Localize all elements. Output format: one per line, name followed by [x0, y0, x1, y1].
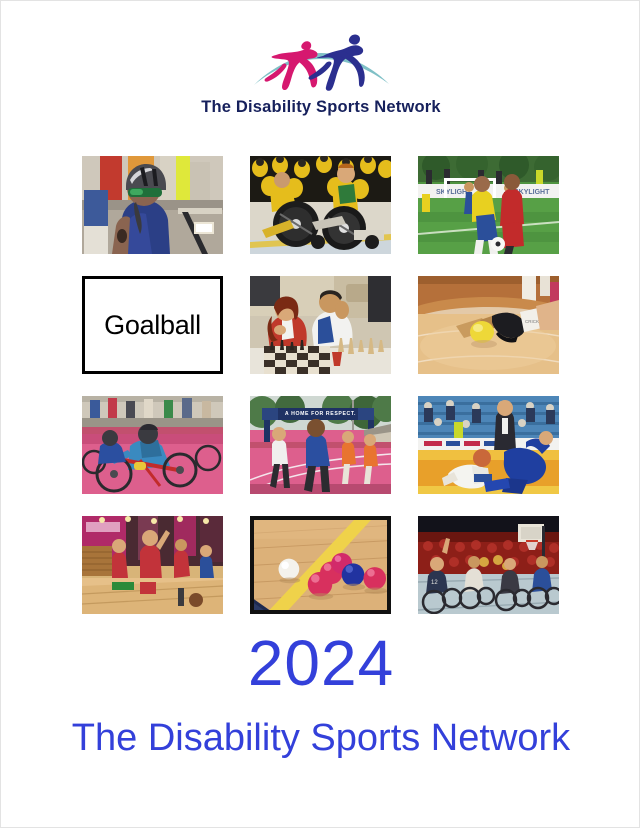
- grid-cell: A HOME FOR RESPECT.: [250, 396, 391, 494]
- grid-cell: CRICKET: [418, 276, 559, 374]
- photo-wheelchair-basketball-image: 12: [418, 516, 559, 614]
- photo-judo: [418, 396, 559, 494]
- photo-boccia-image: [254, 520, 387, 612]
- grid-cell: [250, 276, 391, 374]
- photo-para-triathlon-athlete: [82, 156, 223, 254]
- grid-cell: [250, 156, 391, 254]
- photo-chess: [250, 276, 391, 374]
- grid-cell: Goalball: [82, 276, 223, 374]
- placard-goalball: Goalball: [82, 276, 223, 374]
- grid-cell: [82, 516, 223, 614]
- photo-ten-pin-bowling-image: [82, 516, 223, 614]
- photo-athletics-sprint: A HOME FOR RESPECT.: [250, 396, 391, 494]
- photo-wheelchair-rugby-image: [250, 156, 391, 254]
- photo-judo-image: [418, 396, 559, 494]
- photo-boccia: [250, 516, 391, 614]
- grid-cell: 12: [418, 516, 559, 614]
- grid-cell: [82, 156, 223, 254]
- photo-table-cricket-image: CRICKET: [418, 276, 559, 374]
- grid-cell: SKYLIGHT SKYLIGHT: [418, 156, 559, 254]
- svg-text:12: 12: [431, 580, 438, 586]
- photo-cerebral-palsy-football-image: SKYLIGHT SKYLIGHT: [418, 156, 559, 254]
- organisation-title: The Disability Sports Network: [1, 719, 640, 757]
- photo-chess-image: [250, 276, 391, 374]
- grid-cell: [82, 396, 223, 494]
- the-disability-sports-network-logo-icon: [246, 23, 396, 93]
- photo-handcycling: [82, 396, 223, 494]
- calendar-year: 2024: [1, 631, 640, 695]
- photo-athletics-banner-text: A HOME FOR RESPECT.: [250, 411, 391, 417]
- photo-ten-pin-bowling: [82, 516, 223, 614]
- logo-block: The Disability Sports Network: [1, 23, 640, 117]
- photo-para-triathlon-athlete-image: [82, 156, 223, 254]
- placard-goalball-label: Goalball: [104, 310, 201, 341]
- photo-wheelchair-rugby: [250, 156, 391, 254]
- grid-cell: [250, 516, 391, 614]
- photo-wheelchair-basketball: 12: [418, 516, 559, 614]
- logo-wordmark: The Disability Sports Network: [1, 98, 640, 117]
- photo-handcycling-image: [82, 396, 223, 494]
- photo-table-cricket: CRICKET: [418, 276, 559, 374]
- calendar-cover-page: The Disability Sports Network: [0, 0, 640, 828]
- grid-cell: [418, 396, 559, 494]
- sports-photo-grid: SKYLIGHT SKYLIGHT: [82, 156, 560, 614]
- photo-cerebral-palsy-football: SKYLIGHT SKYLIGHT: [418, 156, 559, 254]
